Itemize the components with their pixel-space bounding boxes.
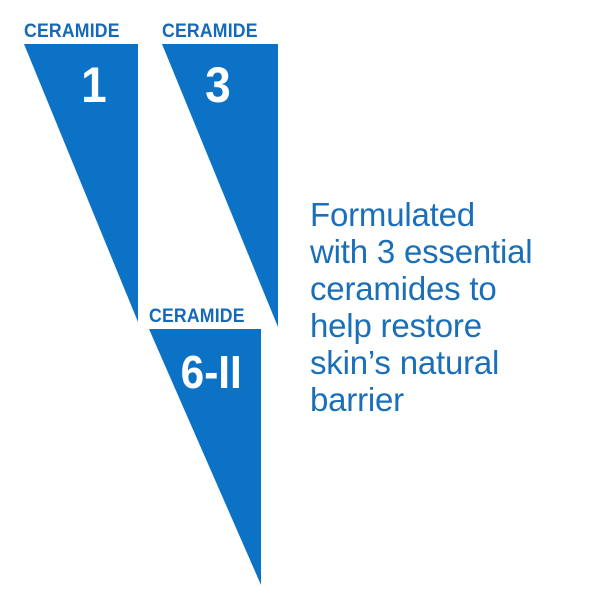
ceramide-number-3: 3 xyxy=(205,60,231,110)
ceramide-wedge-6ii: CERAMIDE 6-II xyxy=(149,307,261,585)
ceramide-label-1: CERAMIDE xyxy=(24,22,130,41)
ceramide-label-6ii: CERAMIDE xyxy=(149,307,253,326)
ceramide-label-3: CERAMIDE xyxy=(162,22,270,41)
description-text: Formulated with 3 essential ceramides to… xyxy=(310,196,578,418)
triangle-wedge-icon: 3 xyxy=(162,44,278,327)
ceramide-number-1: 1 xyxy=(81,60,107,110)
ceramide-wedge-1: CERAMIDE 1 xyxy=(24,22,138,322)
ceramide-number-6ii: 6-II xyxy=(181,349,242,395)
infographic-canvas: CERAMIDE 1 CERAMIDE 3 CERAMIDE 6-II Form… xyxy=(0,0,600,600)
ceramide-wedge-3: CERAMIDE 3 xyxy=(162,22,278,327)
triangle-wedge-icon: 1 xyxy=(24,44,138,322)
triangle-wedge-icon: 6-II xyxy=(149,329,261,585)
